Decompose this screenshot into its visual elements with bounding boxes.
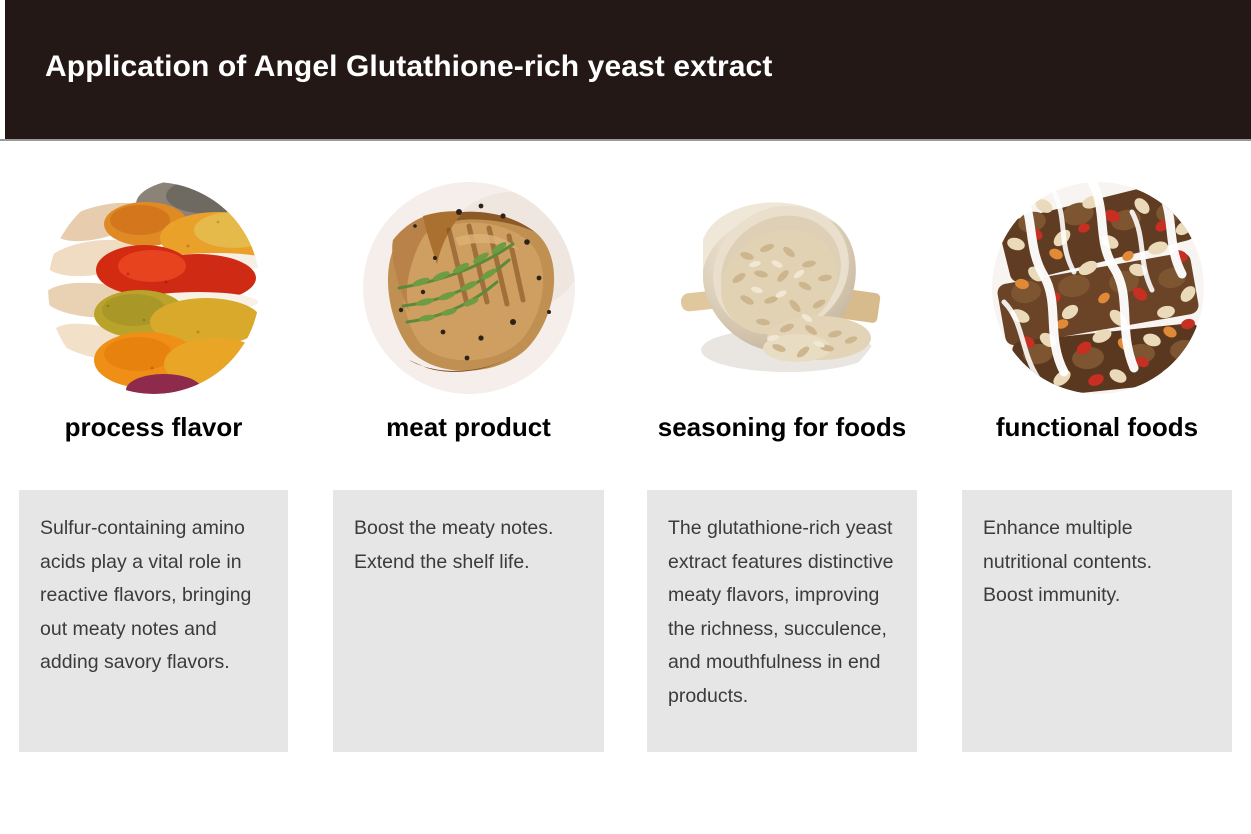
description-text: Enhance multiple nutritional contents. B… xyxy=(983,512,1212,613)
description-card: Enhance multiple nutritional contents. B… xyxy=(962,490,1232,752)
description-card: The glutathione-rich yeast extract featu… xyxy=(647,490,917,752)
column-heading: meat product xyxy=(333,412,604,443)
page-title: Application of Angel Glutathione-rich ye… xyxy=(45,50,772,84)
description-card: Sulfur-containing amino acids play a vit… xyxy=(19,490,288,752)
column-heading: functional foods xyxy=(962,412,1232,443)
description-text: The glutathione-rich yeast extract featu… xyxy=(668,512,897,713)
header-divider xyxy=(0,139,1251,141)
bowl-of-oats-photo xyxy=(677,182,889,394)
column-heading: process flavor xyxy=(19,412,288,443)
granola-bars-photo xyxy=(992,182,1204,394)
column-heading: seasoning for foods xyxy=(647,412,917,443)
spices-on-wooden-spoons-photo xyxy=(48,182,260,394)
description-text: Sulfur-containing amino acids play a vit… xyxy=(40,512,268,680)
description-card: Boost the meaty notes. Extend the shelf … xyxy=(333,490,604,752)
description-text: Boost the meaty notes. Extend the shelf … xyxy=(354,512,584,579)
grilled-pork-chop-photo xyxy=(363,182,575,394)
